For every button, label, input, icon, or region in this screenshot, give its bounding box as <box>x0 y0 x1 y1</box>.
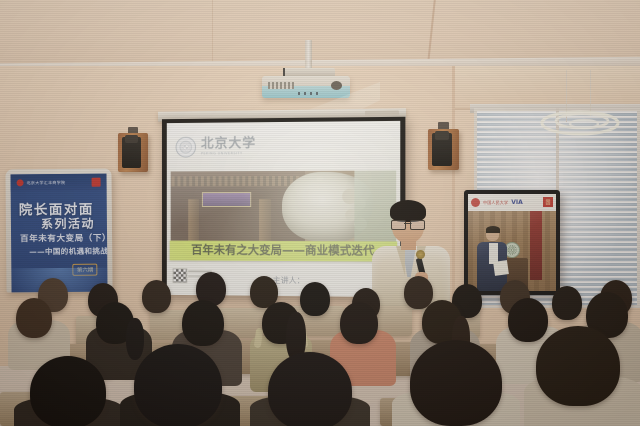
slide-header: 北京大学 PEKING UNIVERSITY <box>167 121 400 171</box>
audience-head-foreground <box>134 344 222 426</box>
audience-head-foreground <box>536 326 620 406</box>
banner-headline-2: 系列活动 <box>41 215 95 232</box>
banner-logo-icon <box>17 179 24 186</box>
tv-org-seal-icon <box>471 198 480 207</box>
audience-head-foreground <box>410 340 502 426</box>
wall-corner <box>452 66 455 316</box>
banner-artwork: 北京大学汇丰商学院 院长面对面 系列活动 百年未有大变局（下） ——中国的机遇和… <box>11 174 108 293</box>
wall-speaker-right <box>428 129 459 170</box>
qr-code-icon <box>173 268 188 283</box>
audience-head <box>16 298 52 338</box>
audience-head-foreground <box>268 352 352 426</box>
ceiling-projector <box>262 76 350 98</box>
standing-roll-up-banner: 北京大学汇丰商学院 院长面对面 系列活动 百年未有大变局（下） ——中国的机遇和… <box>5 169 112 293</box>
audience-head <box>552 286 582 320</box>
eyeglasses-icon <box>391 220 425 228</box>
speaker-cone <box>122 137 142 168</box>
tv-speaker-hair <box>486 226 500 233</box>
projector-buttons[interactable] <box>298 92 320 95</box>
audience-head <box>340 302 378 344</box>
main-projection-screen[interactable]: 北京大学 PEKING UNIVERSITY 百年未有之大变局——商业模式迭代 <box>162 117 405 297</box>
projector-vent <box>268 82 294 89</box>
slide-photo-campus-gate <box>171 170 396 242</box>
banner-org-text: 北京大学汇丰商学院 <box>27 179 66 185</box>
tv-badge: 国 <box>543 197 553 207</box>
speaker-cone <box>432 133 452 166</box>
spiral-ring-pendant-light-icon <box>538 108 622 138</box>
lecture-hall-photo: 北京大学 PEKING UNIVERSITY 百年未有之大变局——商业模式迭代 <box>0 0 640 426</box>
presentation-slide: 北京大学 PEKING UNIVERSITY 百年未有之大变局——商业模式迭代 <box>167 121 400 297</box>
projector-lens <box>331 81 342 90</box>
audience-head <box>300 282 330 316</box>
university-logo-text: 北京大学 <box>201 137 256 150</box>
slide-title-text: 百年未有之大变局——商业模式迭代 <box>191 245 375 257</box>
presenter-hair <box>390 200 426 222</box>
university-logo-subtext: PEKING UNIVERSITY <box>201 152 256 156</box>
screen-brand-tag <box>365 110 399 115</box>
presenter-lapel-left <box>396 246 405 276</box>
banner-corner-mark-icon <box>92 178 101 187</box>
projection-surface: 北京大学 PEKING UNIVERSITY 百年未有之大变局——商业模式迭代 <box>167 121 400 297</box>
slide-speaker-label: 主讲人： <box>273 275 305 286</box>
banner-subtitle-1: 百年未有大变局（下） <box>20 232 108 245</box>
wall-speaker-left <box>118 133 148 172</box>
audience-head <box>182 300 224 346</box>
photo-gate-column-right <box>260 199 271 242</box>
tv-screen-content: 中国人民大学 VIA 国 <box>468 194 556 291</box>
tv-overlay-header: 中国人民大学 VIA 国 <box>468 194 556 211</box>
tv-red-curtain <box>530 211 541 279</box>
slide-title-banner: 百年未有之大变局——商业模式迭代 <box>170 241 397 262</box>
tv-org-name-blue: VIA <box>511 199 523 206</box>
photo-gate-column-left <box>188 199 199 241</box>
peking-university-seal-icon <box>176 137 196 158</box>
audience-ponytail <box>126 318 144 360</box>
audience-head <box>142 280 171 313</box>
tv-scene-room <box>468 211 556 291</box>
tv-speaker-papers <box>493 260 509 276</box>
banner-subtitle-2: ——中国的机遇和挑战 <box>29 246 107 258</box>
audience-head <box>508 298 548 342</box>
banner-header-bar: 北京大学汇丰商学院 <box>11 174 107 192</box>
tv-org-name-red: 中国人民大学 <box>483 200 508 206</box>
audience-head-foreground <box>30 356 106 426</box>
